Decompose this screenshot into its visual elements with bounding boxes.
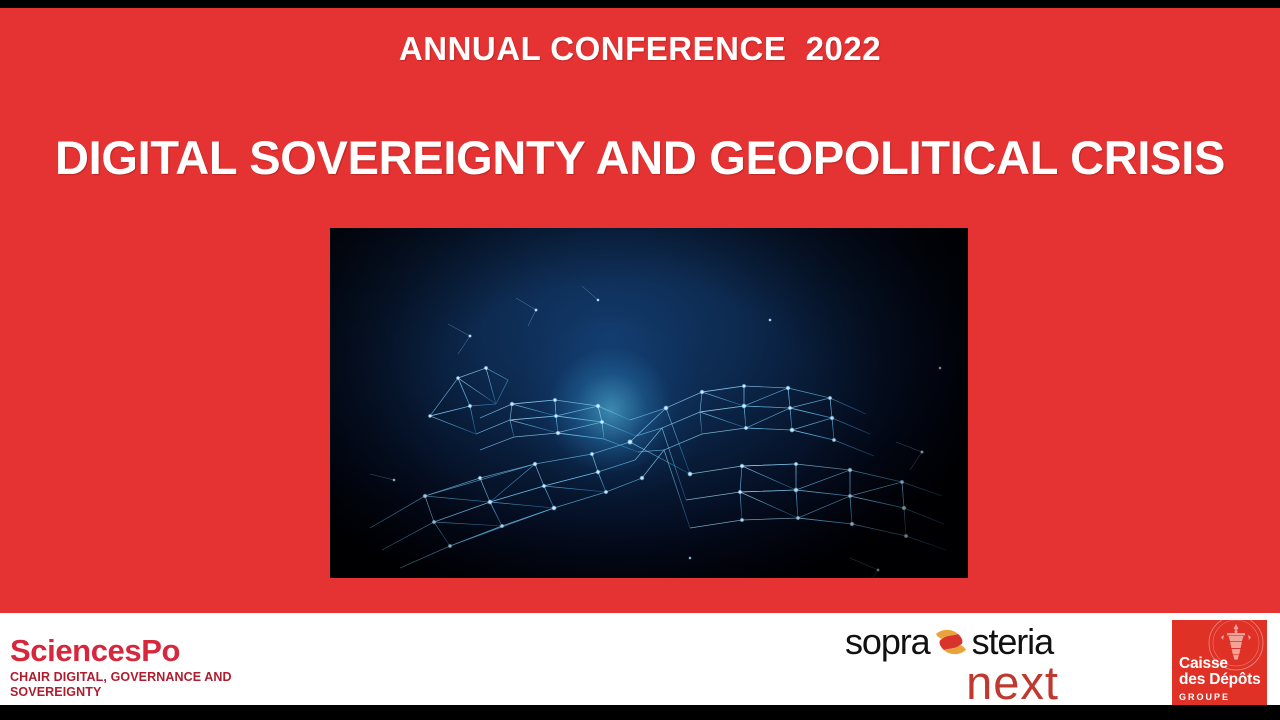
logo-caisse-des-depots: Caisse des Dépôts GROUPE bbox=[1172, 620, 1267, 705]
steria-word: steria bbox=[972, 624, 1053, 660]
conference-slide: ANNUAL CONFERENCE 2022 DIGITAL SOVEREIGN… bbox=[0, 0, 1280, 720]
caisse-groupe-label: GROUPE bbox=[1179, 692, 1230, 702]
slide-stage: ANNUAL CONFERENCE 2022 DIGITAL SOVEREIGN… bbox=[0, 8, 1280, 613]
sopra-steria-s-mark-icon bbox=[933, 627, 969, 657]
caisse-wordmark: Caisse des Dépôts bbox=[1179, 656, 1261, 689]
caisse-line-1: Caisse bbox=[1179, 656, 1261, 673]
letterbox-bar-bottom bbox=[0, 705, 1280, 720]
page-title: DIGITAL SOVEREIGNTY AND GEOPOLITICAL CRI… bbox=[0, 130, 1280, 185]
media-vignette bbox=[330, 228, 968, 578]
logo-sciencespo: SciencesPo CHAIR DIGITAL, GOVERNANCE AND… bbox=[10, 635, 310, 701]
sopra-steria-next-word: next bbox=[845, 659, 1125, 706]
caisse-line-2: des Dépôts bbox=[1179, 672, 1261, 689]
letterbox-bar-top bbox=[0, 0, 1280, 8]
sopra-word: sopra bbox=[845, 624, 930, 660]
media-image bbox=[330, 228, 968, 578]
sciencespo-chair-subtitle: CHAIR DIGITAL, GOVERNANCE AND SOVEREIGNT… bbox=[10, 670, 245, 701]
slide-eyebrow: ANNUAL CONFERENCE 2022 bbox=[0, 30, 1280, 68]
logo-sopra-steria-next: sopra steria next bbox=[845, 623, 1125, 705]
sponsor-logo-bar: SciencesPo CHAIR DIGITAL, GOVERNANCE AND… bbox=[0, 613, 1280, 705]
sciencespo-wordmark: SciencesPo bbox=[10, 635, 310, 666]
